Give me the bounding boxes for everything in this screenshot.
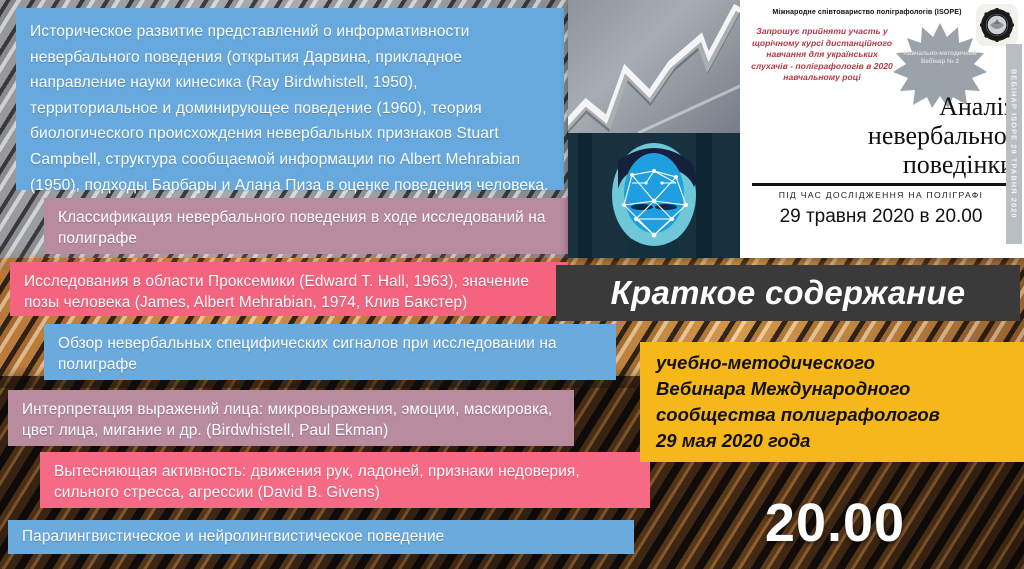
poster-text-column: Міжнародне співтовариство поліграфологів… (740, 0, 1024, 258)
section-banner: Краткое содержание (556, 265, 1020, 321)
poster-title-line-1: Аналіз (752, 92, 1014, 121)
slide-canvas: Историческое развитие представлений о ин… (0, 0, 1024, 569)
big-time-label: 20.00 (690, 492, 980, 554)
bullet-box-displacement: Вытесняющая активность: движения рук, ла… (40, 452, 650, 508)
bullet-box-classification: Классификация невербального поведения в … (44, 198, 584, 254)
yellow-line-1: учебно-методического (656, 350, 1010, 376)
poster-title-line-2: невербальної (752, 121, 1014, 150)
poster-starburst-text: Навчально-методичний Вебінар № 2 (892, 50, 988, 67)
bullet-box-face-interpretation: Интерпретация выражений лица: микровыраж… (8, 390, 574, 446)
bullet-box-paralinguistic: Паралингвистическое и нейролингвистическ… (8, 520, 634, 554)
poster-invitation: Запрошує прийняти участь у щорічному кур… (748, 26, 896, 84)
bullet-box-signals-review: Обзор невербальных специфических сигнало… (44, 324, 616, 380)
poster-subtitle: ПІД ЧАС ДОСЛІДЖЕННЯ НА ПОЛІГРАФІ (752, 190, 1010, 200)
bullet-box-intro: Историческое развитие представлений о ин… (16, 8, 564, 190)
webinar-poster: Міжнародне співтовариство поліграфологів… (568, 0, 1024, 258)
yellow-line-4: 29 мая 2020 года (656, 428, 1010, 454)
upward-zigzag-arrow-icon (568, 0, 740, 133)
poster-title: Аналіз невербальної поведінки (752, 92, 1014, 179)
section-banner-title: Краткое содержание (611, 274, 966, 312)
poster-organization: Міжнародне співтовариство поліграфологів… (748, 8, 986, 16)
yellow-line-3: сообщества полиграфологов (656, 402, 1010, 428)
yellow-line-2: Вебинара Международного (656, 376, 1010, 402)
yellow-info-box: учебно-методического Вебинара Международ… (640, 342, 1024, 462)
poster-image-column (568, 0, 740, 258)
poster-title-line-3: поведінки (752, 150, 1014, 179)
face-recognition-mesh-icon (568, 133, 740, 258)
poster-vertical-strip: ВЕБІНАР ISOPE 29 ТРАВНЯ 2020 (1006, 44, 1022, 244)
bullet-box-proxemics: Исследования в области Проксемики (Edwar… (10, 262, 568, 316)
poster-divider (752, 183, 1010, 186)
poster-date: 29 травня 2020 в 20.00 (752, 206, 1010, 228)
